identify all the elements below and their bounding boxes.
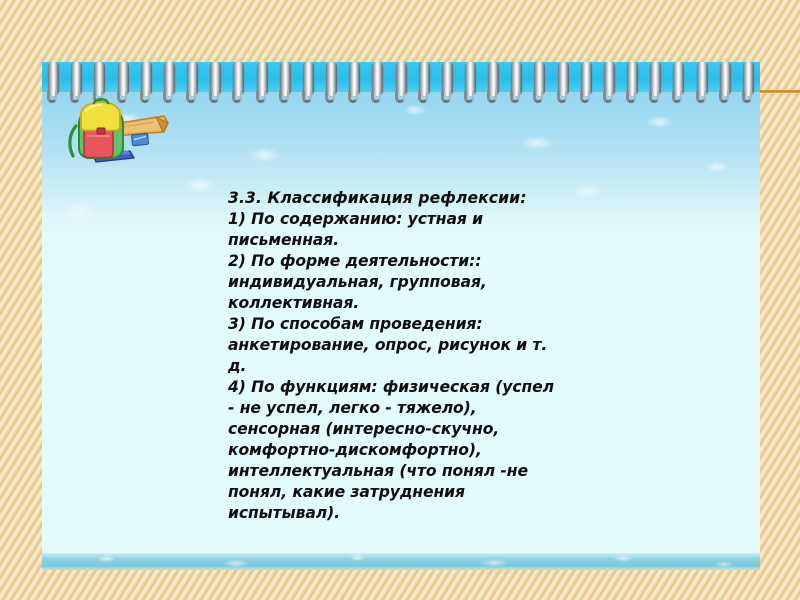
spiral-ring [627,62,638,96]
spiral-ring [280,62,291,96]
school-backpack-icon [56,96,174,168]
spiral-ring [349,62,360,96]
spiral-ring [581,62,592,96]
spiral-ring [419,62,430,96]
spiral-ring [326,62,337,96]
spiral-ring [164,62,175,96]
spiral-ring [48,62,59,96]
spiral-ring [210,62,221,96]
backpack-body-shape [79,99,123,158]
spiral-ring [534,62,545,96]
spiral-ring [488,62,499,96]
spiral-ring [303,62,314,96]
slide-heading: 3.3. Классификация рефлексии: [228,188,608,209]
spiral-ring [558,62,569,96]
notebook-graphic: 3.3. Классификация рефлексии: 1) По соде… [42,62,760,570]
spiral-ring [743,62,754,96]
backpack-strap [70,126,76,156]
spiral-ring [94,62,105,96]
spiral-ring [141,62,152,96]
spiral-ring [118,62,129,96]
spiral-ring [442,62,453,96]
spiral-ring [604,62,615,96]
spiral-ring [650,62,661,96]
spiral-ring [465,62,476,96]
spiral-ring [233,62,244,96]
spiral-ring [396,62,407,96]
spiral-ring [697,62,708,96]
blue-tag-shape [132,133,149,146]
slide-text-block: 3.3. Классификация рефлексии: 1) По соде… [228,188,608,524]
slide-canvas: 3.3. Классификация рефлексии: 1) По соде… [0,0,800,600]
slide-body-text: 1) По содержанию: устная и письменная. 2… [228,209,608,524]
spiral-ring [372,62,383,96]
accent-rule [760,90,800,93]
spiral-ring [71,62,82,96]
spiral-ring [720,62,731,96]
paper-footer-band [42,553,760,570]
spiral-ring [673,62,684,96]
spiral-ring [511,62,522,96]
spiral-ring [187,62,198,96]
spiral-ring [257,62,268,96]
